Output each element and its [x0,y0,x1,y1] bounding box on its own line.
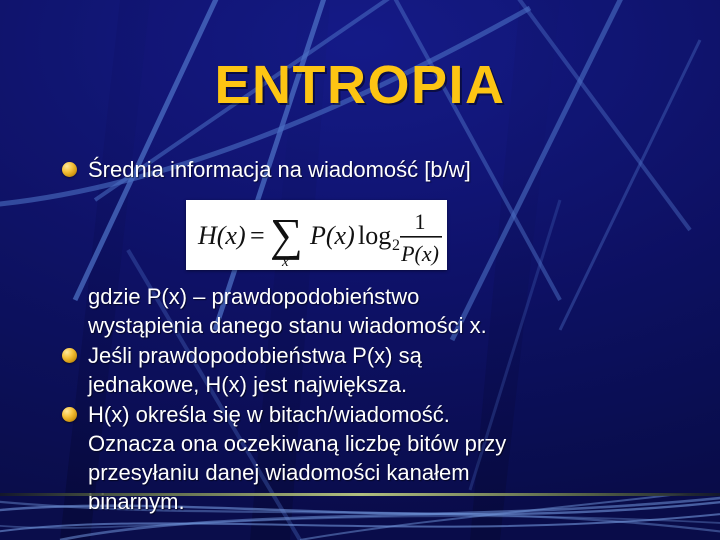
bullet-sphere-icon [62,348,77,363]
bullet-item-1: Średnia informacja na wiadomość [b/w] [56,155,676,184]
bullet-item-2-line-2: jednakowe, H(x) jest największa. [88,370,676,399]
bullet-item-1-line-1: Średnia informacja na wiadomość [b/w] [88,155,676,184]
bullet-item-3-line-4: binarnym. [88,487,676,516]
formula-spacer [56,185,676,282]
slide-title: ENTROPIA [0,58,720,112]
bullet-sphere-icon [62,162,77,177]
slide-canvas: ENTROPIA H(x) = ∑ x P(x) log 2 1 P(x) Śr… [0,0,720,540]
bullet-item-2-line-1: Jeśli prawdopodobieństwa P(x) są [88,341,676,370]
bullet-item-3-line-3: przesyłaniu danej wiadomości kanałem [88,458,676,487]
bullet-item-3-line-1: H(x) określa się w bitach/wiadomość. [88,400,676,429]
slide-body: Średnia informacja na wiadomość [b/w] gd… [56,155,676,517]
bullet-item-2: Jeśli prawdopodobieństwa P(x) są jednako… [56,341,676,399]
paragraph-definition-line-1: gdzie P(x) – prawdopodobieństwo [88,282,676,311]
bullet-item-3: H(x) określa się w bitach/wiadomość. Ozn… [56,400,676,516]
paragraph-definition: gdzie P(x) – prawdopodobieństwo wystąpie… [56,282,676,340]
bullet-sphere-icon [62,407,77,422]
bullet-item-3-line-2: Oznacza ona oczekiwaną liczbę bitów przy [88,429,676,458]
bottom-divider [0,493,720,496]
paragraph-definition-line-2: wystąpienia danego stanu wiadomości x. [88,311,676,340]
